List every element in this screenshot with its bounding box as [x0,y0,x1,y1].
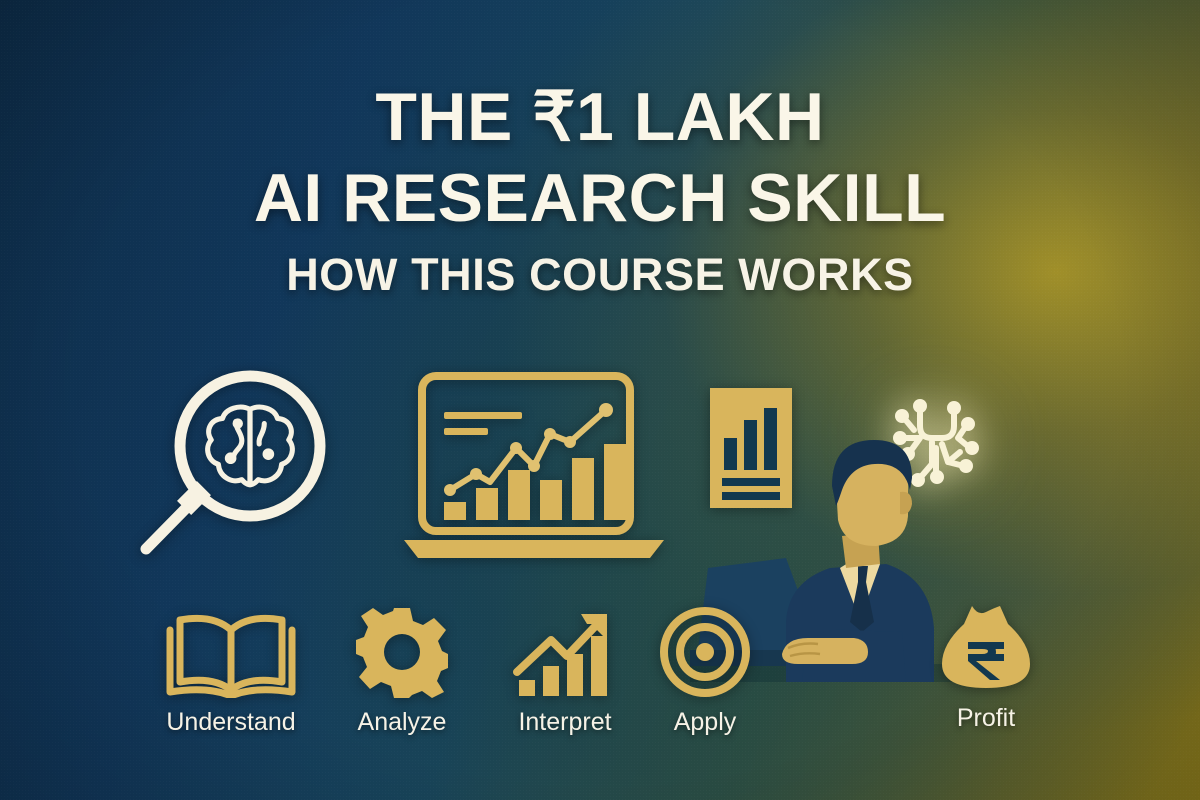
subtitle: HOW THIS COURSE WORKS [0,249,1200,301]
step-understand[interactable]: Understand [141,606,321,737]
step-label: Profit [896,704,1076,733]
headline-block: THE ₹1 LAKH AI RESEARCH SKILL HOW THIS C… [0,84,1200,301]
course-banner: THE ₹1 LAKH AI RESEARCH SKILL HOW THIS C… [0,0,1200,800]
gear-icon [312,606,492,698]
step-label: Understand [141,708,321,737]
open-book-icon [141,606,321,698]
money-bag-rupee-icon [896,602,1076,694]
headline-line-1: THE ₹1 LAKH [0,84,1200,151]
step-apply[interactable]: Apply [615,606,795,737]
step-label: Apply [615,708,795,737]
laptop-analytics-icon [398,370,670,570]
bullseye-target-icon [615,606,795,698]
step-analyze[interactable]: Analyze [312,606,492,737]
step-label: Analyze [312,708,492,737]
magnifier-brain-icon [128,366,338,571]
step-profit[interactable]: Profit [896,602,1076,733]
headline-line-2: AI RESEARCH SKILL [0,165,1200,232]
